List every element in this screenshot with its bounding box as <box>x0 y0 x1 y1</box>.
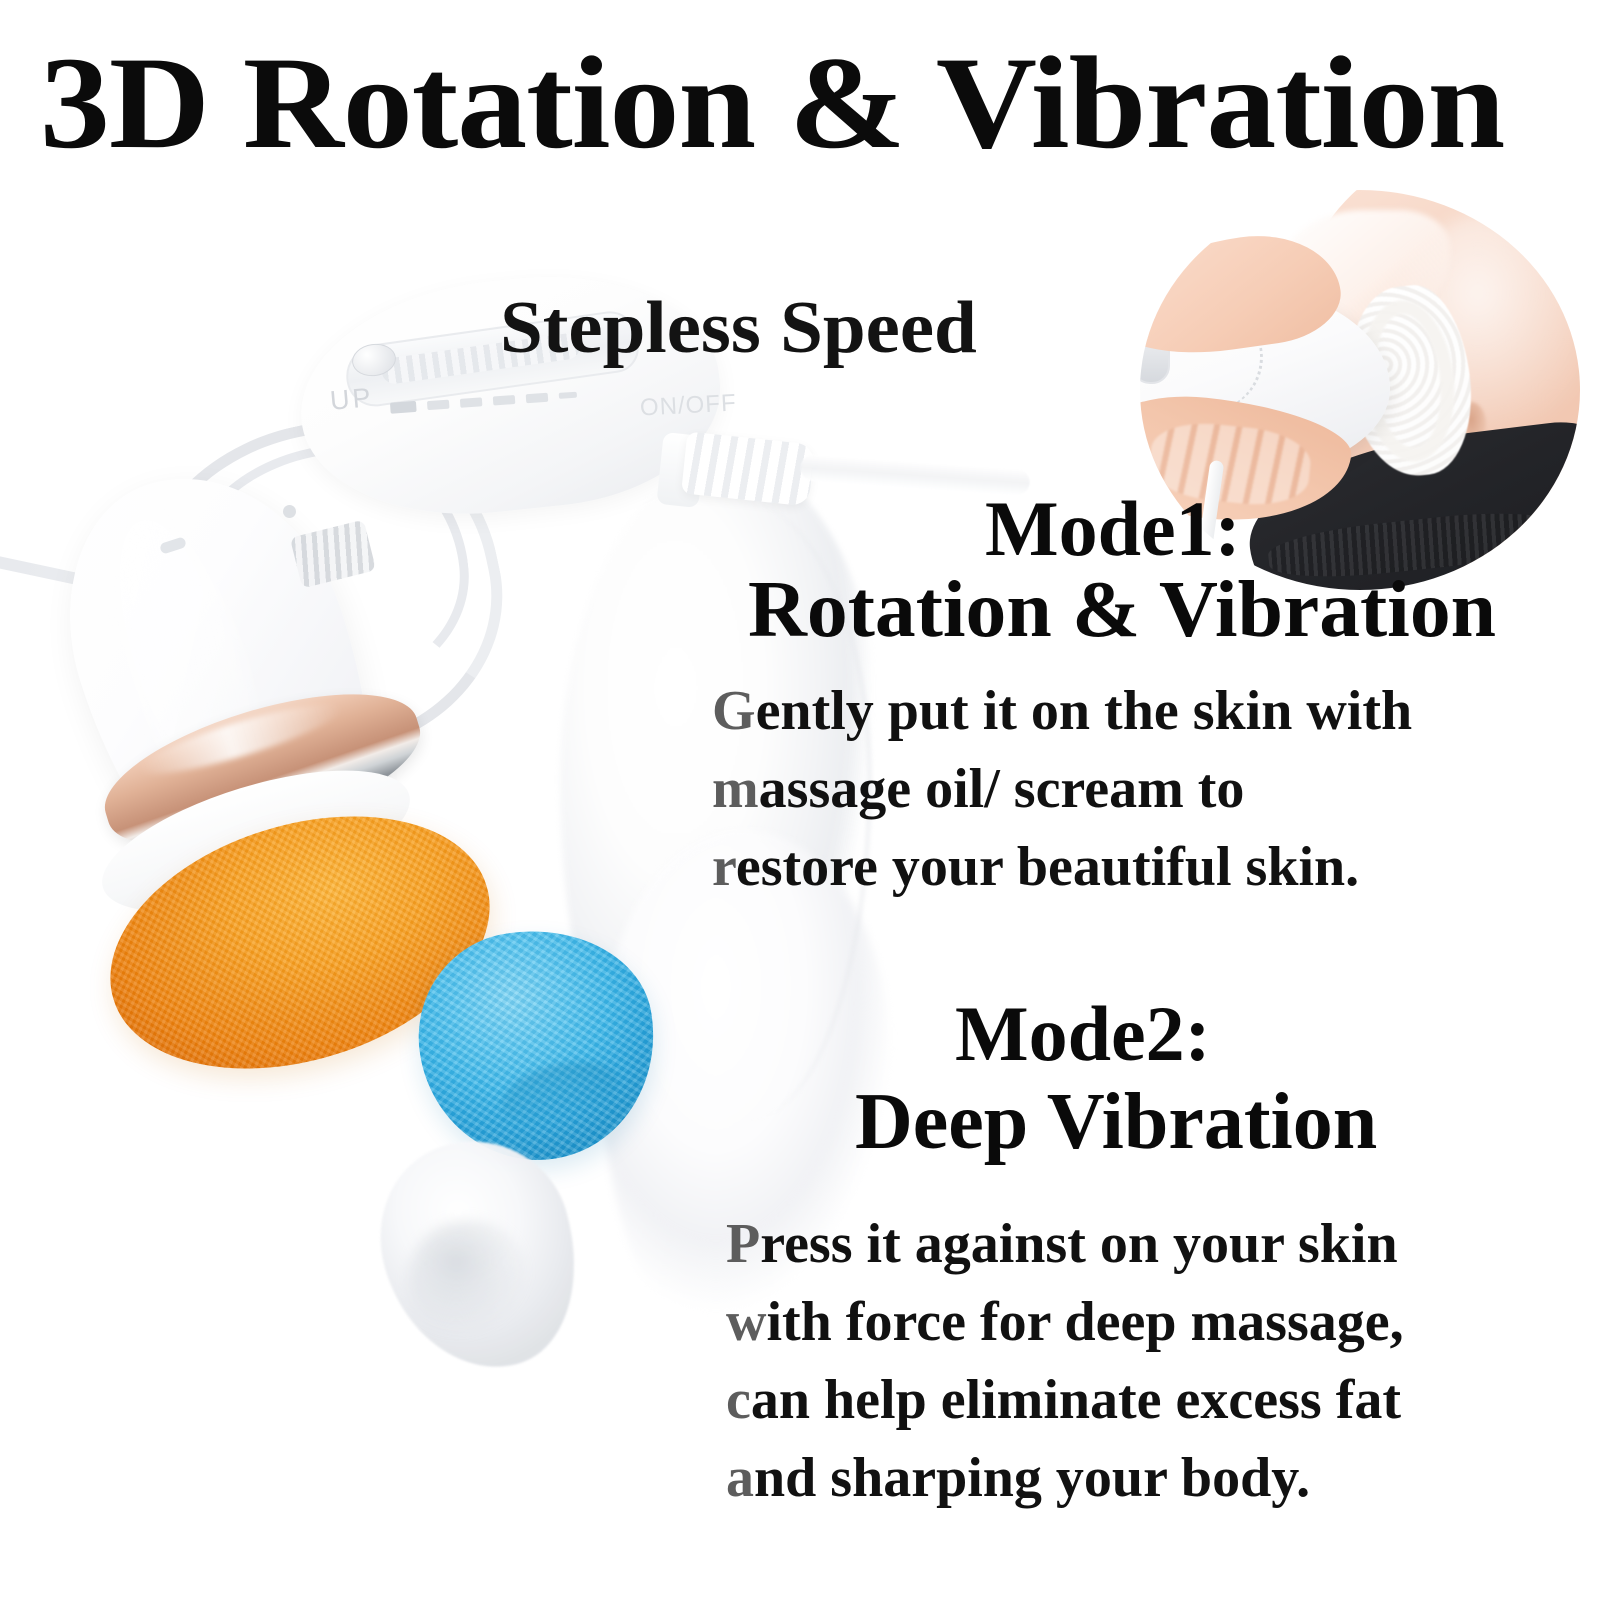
handle-screw-dot <box>283 505 296 518</box>
product-infographic: 3D Rotation & Vibration UP ON/OFF <box>0 0 1620 1620</box>
mode2-title: Deep Vibration <box>855 1082 1377 1162</box>
mode2-description: Press it against on your skin with force… <box>726 1205 1606 1517</box>
mode1-line-2: massage oil/ scream to <box>712 750 1592 828</box>
on-off-label: ON/OFF <box>639 389 737 422</box>
mode1-label: Mode1: <box>985 490 1241 568</box>
mode1-title: Rotation & Vibration <box>748 570 1496 650</box>
mode2-line-1: Press it against on your skin <box>726 1205 1606 1283</box>
mode1-line-1: Gently put it on the skin with <box>712 672 1592 750</box>
stepless-speed-caption: Stepless Speed <box>500 285 977 371</box>
mode2-label: Mode2: <box>955 995 1211 1073</box>
mode1-line-3: restore your beautiful skin. <box>712 828 1592 906</box>
mode2-line-4: and sharping your body. <box>726 1439 1606 1517</box>
mode2-line-2: with force for deep massage, <box>726 1283 1606 1361</box>
up-label: UP <box>329 382 375 417</box>
cord-strain-relief <box>681 431 815 506</box>
page-title: 3D Rotation & Vibration <box>40 38 1620 168</box>
mode2-line-3: can help eliminate excess fat <box>726 1361 1606 1439</box>
white-cover-shadow <box>408 1220 528 1340</box>
mode1-description: Gently put it on the skin with massage o… <box>712 672 1592 906</box>
